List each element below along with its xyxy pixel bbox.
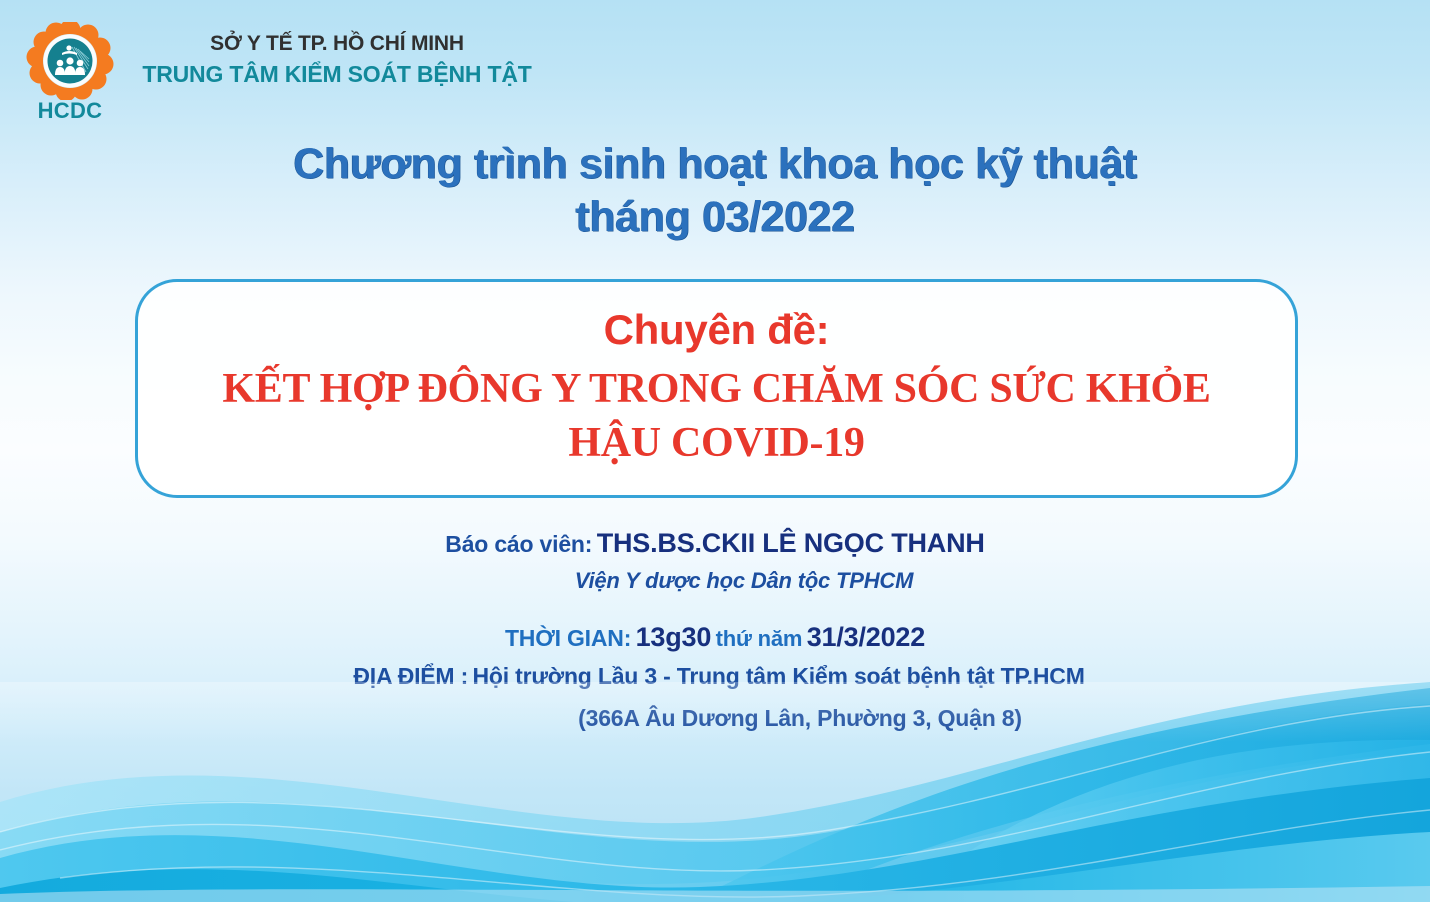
speaker-affiliation: Viện Y dược học Dân tộc TPHCM xyxy=(0,568,1430,594)
hcdc-logo-block: HCDC xyxy=(26,22,122,128)
wave-top-fade xyxy=(0,682,1430,742)
speaker-label: Báo cáo viên: xyxy=(445,531,592,557)
poster-header: HCDC SỞ Y TẾ TP. HỒ CHÍ MINH TRUNG TÂM K… xyxy=(0,0,1430,130)
topic-name-line2: HẬU COVID-19 xyxy=(222,416,1210,470)
poster-canvas: HCDC SỞ Y TẾ TP. HỒ CHÍ MINH TRUNG TÂM K… xyxy=(0,0,1430,902)
speaker-name: THS.BS.CKII LÊ NGỌC THANH xyxy=(597,528,985,558)
program-title-line2: tháng 03/2022 xyxy=(0,191,1430,244)
organization-names: SỞ Y TẾ TP. HỒ CHÍ MINH TRUNG TÂM KIỂM S… xyxy=(122,30,552,89)
time-value: 13g30 xyxy=(636,622,712,652)
topic-box: Chuyên đề: KẾT HỢP ĐÔNG Y TRONG CHĂM SÓC… xyxy=(135,279,1298,498)
time-date: 31/3/2022 xyxy=(807,622,925,652)
org-name-center: TRUNG TÂM KIỂM SOÁT BỆNH TẬT xyxy=(122,60,552,89)
topic-name: KẾT HỢP ĐÔNG Y TRONG CHĂM SÓC SỨC KHỎE H… xyxy=(222,362,1210,470)
decorative-wave-graphic xyxy=(0,682,1430,902)
time-label: THỜI GIAN: xyxy=(505,625,631,651)
time-weekday: thứ năm xyxy=(716,626,803,651)
program-title: Chương trình sinh hoạt khoa học kỹ thuật… xyxy=(0,138,1430,244)
org-name-department: SỞ Y TẾ TP. HỒ CHÍ MINH xyxy=(122,30,552,57)
hcdc-logo-caption: HCDC xyxy=(26,98,114,124)
speaker-section: Báo cáo viên: THS.BS.CKII LÊ NGỌC THANH … xyxy=(0,528,1430,594)
time-line: THỜI GIAN: 13g30 thứ năm 31/3/2022 xyxy=(0,620,1430,659)
hcdc-flower-logo-icon xyxy=(26,22,114,100)
topic-name-line1: KẾT HỢP ĐÔNG Y TRONG CHĂM SÓC SỨC KHỎE xyxy=(222,366,1210,412)
topic-label: Chuyên đề: xyxy=(604,304,830,356)
program-title-line1: Chương trình sinh hoạt khoa học kỹ thuật xyxy=(293,140,1137,188)
speaker-line: Báo cáo viên: THS.BS.CKII LÊ NGỌC THANH xyxy=(0,528,1430,559)
